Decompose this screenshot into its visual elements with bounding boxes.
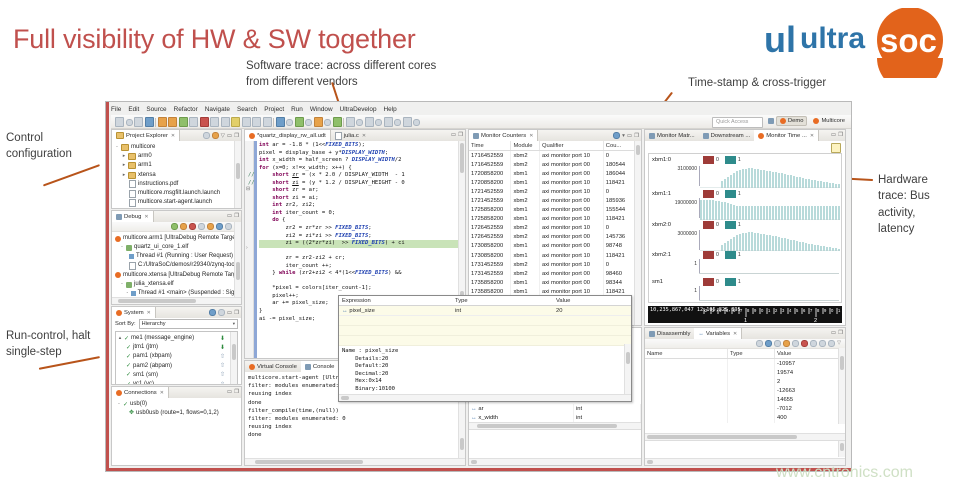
tree-item[interactable]: multicore.xtensa [UltraDebug Remote Targ… (115, 271, 241, 280)
variables-rows[interactable]: -10957 19574 2 -12663 14655 -7012 400 (645, 359, 845, 423)
debug-view-body[interactable]: ▽ multicore.arm1 [UltraDebug Remote Targ… (112, 222, 241, 304)
forward-icon[interactable] (413, 119, 420, 126)
suspend-icon[interactable] (180, 223, 187, 230)
copy-icon[interactable] (756, 340, 763, 347)
cell-time: 1730858200 (469, 251, 511, 260)
collapse-all-icon[interactable] (203, 132, 210, 139)
open-type-icon[interactable] (346, 117, 355, 127)
tree-item-label: usb(0) (130, 400, 147, 409)
tab-system[interactable]: System ✕ (112, 307, 156, 318)
column-type[interactable]: Type (728, 349, 775, 359)
maximize-icon[interactable]: ❐ (634, 133, 639, 139)
cell-count: 0 (603, 187, 635, 196)
variables-scrollbar[interactable] (838, 348, 845, 424)
svg-text:ultra: ultra (800, 22, 865, 55)
scrollbar-thumb[interactable] (341, 396, 349, 400)
step-into-icon[interactable] (210, 117, 219, 127)
svg-text:3: 3 (782, 308, 785, 313)
cell-name (645, 386, 728, 395)
sort-by-select[interactable]: Hierarchy ▾ (139, 319, 238, 329)
minimize-icon[interactable]: ▭ (831, 132, 836, 138)
terminate-icon[interactable] (189, 223, 196, 230)
tree-item[interactable]: - ✓ usb(0) (115, 400, 241, 409)
external-dropdown-icon[interactable] (324, 119, 331, 126)
build-icon[interactable] (276, 117, 285, 127)
process-icon (126, 245, 132, 251)
detail-pane-icon[interactable] (828, 340, 835, 347)
system-view-controls[interactable]: ▭ ❐ (209, 309, 239, 316)
resume-icon[interactable] (242, 117, 251, 127)
tree-item[interactable]: - quartz_ui_core_1.elf (115, 243, 241, 252)
table-row[interactable]: 1735858200xbm1axi monitor port 0098344 (469, 278, 641, 287)
table-row[interactable]: 1720858200xbm1axi monitor port 00186044 (469, 169, 641, 178)
close-icon[interactable]: ✕ (147, 310, 151, 316)
tree-item-label: me1 (message_engine) (131, 334, 194, 343)
expression-popup-blank-row[interactable] (339, 316, 631, 326)
table-row[interactable]: 400 (645, 414, 845, 423)
scrollbar-thumb[interactable] (460, 438, 464, 450)
step-over-icon[interactable] (221, 117, 230, 127)
menu-item-edit[interactable]: Edit (128, 106, 139, 113)
tab-downstream[interactable]: Downstream ... (699, 130, 755, 141)
tree-item[interactable]: ▴ ✓ me1 (message_engine) ⬇ (118, 334, 237, 343)
new-file-icon[interactable] (115, 117, 124, 127)
tree-item[interactable]: ✓ sm1 (sm) ⇧ (118, 371, 237, 380)
export-icon[interactable] (613, 132, 620, 139)
restart-icon[interactable] (263, 117, 272, 127)
scrollbar-thumb[interactable] (460, 143, 464, 173)
waveform-channel-label: sm1 (652, 279, 663, 285)
print-icon[interactable] (145, 117, 154, 127)
expand-icon[interactable] (765, 340, 772, 347)
system-scrollbar[interactable] (230, 332, 237, 384)
sort-by-row[interactable]: Sort By: Hierarchy ▾ (112, 318, 241, 330)
table-row[interactable]: ↔ ar int (469, 404, 641, 413)
table-row[interactable]: -10957 (645, 359, 845, 369)
close-icon[interactable]: ✕ (144, 214, 148, 220)
tree-item[interactable]: ▸ arm1 (115, 161, 241, 170)
checkbox-checked-icon[interactable]: ✓ (126, 354, 131, 360)
tree-item[interactable]: ▸ arm0 (115, 152, 241, 161)
scrollbar-thumb[interactable] (236, 262, 240, 280)
legend-label-low: 0 (716, 279, 719, 285)
collapse-icon[interactable] (774, 340, 781, 347)
column-count[interactable]: Cou... (603, 141, 635, 151)
toolbar: Quick Access Demo Multicore (111, 115, 851, 129)
remove-all-icon[interactable] (810, 340, 817, 347)
debug-toolbar[interactable]: ▽ (112, 222, 241, 232)
cell-module: xbm2 (511, 196, 540, 205)
launch-dropdown-icon[interactable] (305, 119, 312, 126)
toolbar-button-group[interactable] (115, 117, 420, 127)
tree-item[interactable]: multicore.msgfilt.launch.launch (115, 189, 241, 198)
minimize-icon[interactable]: ▭ (831, 330, 836, 336)
tree-item[interactable]: ✓ vc1 (vc) ⇧ (118, 380, 237, 384)
expression-popup-blank-row[interactable] (339, 326, 631, 336)
save-icon[interactable] (134, 117, 143, 127)
system-view: System ✕ ▭ ❐ Sort By: Hierarchy ▾ (111, 306, 242, 385)
cell-module: xbm1 (511, 178, 540, 187)
step-return-icon[interactable] (231, 117, 240, 127)
ide-window: File Edit Source Refactor Navigate Searc… (105, 101, 852, 472)
table-row[interactable]: 1726452559xbm2axi monitor port 00145736 (469, 233, 641, 242)
tree-item[interactable]: multicore.arm1 [UltraDebug Remote Target… (115, 234, 241, 243)
edit-icon[interactable] (792, 340, 799, 347)
expression-inspect-popup[interactable]: Expression Type Value ↔ pixel_size int 2… (338, 295, 632, 402)
tree-item-label: pam2 (abpam) (133, 362, 172, 371)
system-tree-container[interactable]: ▴ ✓ me1 (message_engine) ⬇ ✓ jtm1 (jtm) … (115, 331, 238, 384)
column-value[interactable]: Value (775, 349, 845, 359)
table-row[interactable]: 1721452559xbm2axi monitor port 100 (469, 187, 641, 196)
tab-virtual-console[interactable]: Virtual Console (245, 361, 301, 372)
prev-annotation-dropdown-icon[interactable] (394, 119, 401, 126)
expression-popup-row[interactable]: ↔ pixel_size int 20 (339, 306, 631, 316)
table-row[interactable]: 1731452559xbm2axi monitor port 100 (469, 260, 641, 269)
table-row[interactable]: 1720858200xbm1axi monitor port 10118421 (469, 178, 641, 187)
editor-view-controls[interactable]: ▭ ❐ (451, 132, 463, 138)
project-explorer-body[interactable]: - multicore ▸ arm0 ▸ arm1 ▸ xten (112, 141, 241, 208)
table-row[interactable]: 1716452559xbm2axi monitor port 100 (469, 151, 641, 161)
cell-count: 98748 (603, 242, 635, 251)
tab-disassembly[interactable]: Disassembly (645, 328, 694, 339)
step-over-icon[interactable] (207, 223, 214, 230)
quick-access-input[interactable]: Quick Access (712, 117, 763, 128)
cell-variable-name: ↔ ar (469, 404, 574, 413)
variables-left-hscrollbar[interactable] (469, 422, 641, 429)
monitor-counters-rows[interactable]: 1716452559xbm2axi monitor port 100 17164… (469, 151, 641, 306)
menu-item-navigate[interactable]: Navigate (205, 106, 230, 113)
debug-history-icon[interactable] (168, 117, 177, 127)
tab-disassembly-label: Disassembly (657, 331, 690, 337)
minimize-icon[interactable]: ▭ (227, 213, 232, 219)
cell-name (645, 359, 728, 369)
tree-item[interactable]: - julia_xtensa.elf (115, 280, 241, 289)
column-type[interactable]: Type (452, 298, 553, 304)
variables-toolbar[interactable]: ▽ (645, 339, 845, 349)
table-row[interactable]: -12663 (645, 386, 845, 395)
maximize-icon[interactable]: ❐ (838, 132, 843, 138)
perspective-switcher[interactable]: Demo Multicore (768, 116, 849, 126)
project-explorer-view-controls[interactable]: ▽ ▭ ❐ (203, 132, 239, 139)
tree-item[interactable]: quartz_display_rw_all.udt (115, 207, 241, 208)
system-view-body[interactable]: Sort By: Hierarchy ▾ ▴ ✓ me1 (message_en… (112, 318, 241, 384)
cell-module: xbm2 (511, 151, 540, 161)
table-row[interactable]: 1731452559xbm2axi monitor port 0098460 (469, 269, 641, 278)
menu-item-refactor[interactable]: Refactor (174, 106, 198, 113)
scrollbar-thumb[interactable] (626, 352, 630, 364)
column-qualifier[interactable]: Qualifier (539, 141, 603, 151)
waveform-legend[interactable]: 0 1 (703, 251, 741, 259)
run-icon[interactable] (179, 117, 188, 127)
waveform-time-ruler[interactable]: 10,235,867,047 12,105,825,895 (648, 306, 842, 323)
cell-module: xbm2 (511, 224, 540, 233)
debug-scrollbar[interactable] (234, 222, 241, 304)
waveform-legend[interactable]: 0 1 (703, 156, 741, 164)
drop-to-frame-icon[interactable] (225, 223, 232, 230)
pause-icon[interactable] (189, 117, 198, 127)
variables-body[interactable]: ▽ Name Type Value -10957 19574 2 -12663 … (645, 339, 845, 465)
zoom-tool-icon[interactable] (831, 143, 841, 153)
tab-julia-c[interactable]: julia.c ✕ (331, 130, 370, 141)
table-row[interactable]: 1730858200xbm1axi monitor port 10118421 (469, 251, 641, 260)
cell-module: xbm1 (511, 215, 540, 224)
view-menu-icon[interactable]: ▽ (837, 340, 841, 347)
tree-item[interactable]: multicore.start-agent.launch (115, 198, 241, 207)
menu-item-project[interactable]: Project (264, 106, 284, 113)
table-row[interactable]: -7012 (645, 404, 845, 413)
remove-icon[interactable] (801, 340, 808, 347)
cell-qualifier: axi monitor port 10 (539, 187, 603, 196)
tab-variables[interactable]: ↔ Variables ✕ (694, 328, 742, 339)
fold-marker-icon[interactable]: › (246, 245, 248, 251)
cell-qualifier: axi monitor port 10 (539, 151, 603, 161)
new-dropdown-icon[interactable] (126, 119, 133, 126)
chevron-down-icon[interactable]: ▾ (233, 320, 235, 328)
table-row[interactable]: 1730858200xbm1axi monitor port 0098748 (469, 242, 641, 251)
folder-icon (128, 162, 136, 169)
system-tree[interactable]: ▴ ✓ me1 (message_engine) ⬇ ✓ jtm1 (jtm) … (116, 332, 237, 384)
table-row[interactable]: 1716452559xbm2axi monitor port 00180544 (469, 160, 641, 169)
resume-icon[interactable] (171, 223, 178, 230)
minimize-icon[interactable]: ▭ (451, 132, 456, 138)
scrollbar-thumb[interactable] (840, 356, 844, 370)
legend-label-high: 1 (738, 279, 741, 285)
prev-annotation-icon[interactable] (384, 117, 393, 127)
table-row[interactable]: 19574 (645, 368, 845, 377)
chart-icon (758, 133, 764, 139)
waveform-legend[interactable]: 0 1 (703, 278, 741, 286)
node-icon: ✥ (129, 409, 134, 418)
tree-item-label: quartz_display_rw_all.udt (137, 207, 205, 208)
detail-scrollbar[interactable] (838, 441, 845, 457)
menu-item-window[interactable]: Window (310, 106, 333, 113)
connections-tree[interactable]: - ✓ usb(0) ✥ usb0usb (route=1, flows=0,1… (112, 398, 241, 418)
svg-text:7: 7 (740, 308, 743, 313)
debug-icon[interactable] (158, 117, 167, 127)
scrollbar-thumb[interactable] (232, 344, 236, 360)
table-row[interactable]: ↔ x_width int (469, 413, 641, 422)
tab-quartz-display-udt[interactable]: *quartz_display_rw_all.udt (245, 130, 331, 141)
menu-item-run[interactable]: Run (291, 106, 303, 113)
monitor-time-body[interactable]: xbm1:0 0 1 3100000 (645, 141, 845, 325)
expression-popup-details: Name : pixel_size Details:20 Default:20 … (339, 346, 631, 396)
step-into-icon[interactable] (198, 223, 205, 230)
link-with-editor-icon[interactable] (212, 132, 219, 139)
variables-left-table[interactable]: ↔ ar int ↔ x_width int (469, 404, 641, 422)
minimize-icon[interactable]: ▭ (227, 310, 232, 316)
debug-view-controls[interactable]: ▭ ❐ (227, 213, 239, 219)
legend-swatch-low (703, 251, 714, 259)
waveform-canvas[interactable]: xbm1:0 0 1 3100000 (648, 153, 842, 303)
column-module[interactable]: Module (511, 141, 540, 151)
column-name[interactable]: Name (645, 349, 728, 359)
maximize-icon[interactable]: ❐ (234, 389, 239, 395)
tree-item[interactable]: ▸ xtensa (115, 171, 241, 180)
variables-hscrollbar[interactable] (645, 433, 845, 440)
maximize-icon[interactable]: ❐ (838, 330, 843, 336)
table-row[interactable]: 14655 (645, 395, 845, 404)
search-icon[interactable] (333, 117, 342, 127)
expression-popup-blank-row[interactable] (339, 336, 631, 346)
tab-connections[interactable]: Connections ✕ (112, 387, 169, 398)
tree-item[interactable]: ✓ jtm1 (jtm) ⬇ (118, 343, 237, 352)
tree-item[interactable]: ✥ usb0usb (route=1, flows=0,1,2) (115, 409, 241, 418)
tree-item[interactable]: - multicore (115, 143, 241, 152)
open-type-dropdown-icon[interactable] (356, 119, 363, 126)
tree-item[interactable]: instructions.pdf (115, 180, 241, 189)
scrollbar-thumb[interactable] (647, 435, 797, 439)
svg-text:3: 3 (712, 308, 715, 313)
menu-item-source[interactable]: Source (146, 106, 166, 113)
add-watch-icon[interactable] (783, 340, 790, 347)
table-row[interactable]: 2 (645, 377, 845, 386)
tab-debug[interactable]: Debug ✕ (112, 211, 154, 222)
variables-table[interactable]: Name Type Value -10957 19574 2 -12663 14… (645, 349, 845, 423)
next-annotation-icon[interactable] (365, 117, 374, 127)
back-icon[interactable] (403, 117, 412, 127)
perspective-demo[interactable]: Demo (776, 116, 807, 126)
maximize-icon[interactable]: ❐ (234, 310, 239, 316)
cell-count: 118421 (603, 215, 635, 224)
scrollbar-thumb[interactable] (255, 460, 363, 464)
tab-monitor-time[interactable]: Monitor Time ... ✕ (754, 130, 819, 141)
maximize-icon[interactable]: ❐ (234, 213, 239, 219)
table-row[interactable]: 1725858200xbm1axi monitor port 10118421 (469, 215, 641, 224)
close-icon[interactable]: ✕ (160, 390, 164, 396)
scrollbar-thumb[interactable] (118, 299, 196, 303)
console-icon (305, 364, 311, 370)
cell-count: 155544 (603, 206, 635, 215)
debug-hscrollbar[interactable] (112, 297, 241, 304)
view-menu-icon[interactable]: ▾ (622, 133, 625, 139)
tab-monitor-matrix-label: Monitor Matr... (657, 133, 695, 139)
menu-item-ultradevelop[interactable]: UltraDevelop (340, 106, 377, 113)
maximize-icon[interactable]: ❐ (458, 132, 463, 138)
tree-item[interactable]: ✓ pam1 (xbpam) ⇧ (118, 352, 237, 361)
scrollbar-thumb[interactable] (477, 424, 617, 428)
refresh-icon[interactable] (209, 309, 216, 316)
menu-item-help[interactable]: Help (384, 106, 397, 113)
cell-count: 0 (603, 151, 635, 161)
expression-popup-scrollbar[interactable] (624, 344, 631, 394)
arrow-down-icon: ⬇ (220, 336, 225, 342)
connections-view-controls[interactable]: ▭ ❐ (227, 389, 239, 395)
monitor-counters-scrollbar[interactable] (634, 141, 641, 325)
minimize-icon[interactable]: ▭ (227, 133, 232, 139)
view-menu-icon[interactable]: ▽ (221, 133, 225, 139)
scrollbar-thumb[interactable] (636, 145, 640, 155)
tree-item[interactable]: ✓ pam2 (abpam) ⇧ (118, 362, 237, 371)
tree-item-label: multicore.msgfilt.launch.launch (138, 189, 220, 198)
checkbox-checked-icon[interactable]: ✓ (124, 336, 129, 342)
column-expression[interactable]: Expression (339, 298, 452, 304)
checkbox-checked-icon[interactable]: ✓ (126, 372, 131, 378)
monitor-counters-view-controls[interactable]: ▾ ▭ ❐ (613, 132, 639, 139)
twisty-icon: ▸ (122, 171, 126, 180)
svg-text:1: 1 (838, 308, 841, 313)
close-icon[interactable]: ✕ (171, 133, 175, 139)
disconnect-icon[interactable] (252, 117, 261, 127)
minimize-icon[interactable]: ▭ (227, 389, 232, 395)
table-row[interactable]: 1725858200xbm1axi monitor port 00155544 (469, 206, 641, 215)
monitor-time-view-controls[interactable]: ▭ ❐ (831, 132, 843, 138)
waveform-legend[interactable]: 0 1 (703, 221, 741, 229)
close-icon[interactable]: ✕ (362, 133, 366, 139)
build-dropdown-icon[interactable] (286, 119, 293, 126)
debug-tree[interactable]: multicore.arm1 [UltraDebug Remote Target… (112, 232, 241, 304)
cell-value: -10957 (775, 359, 845, 369)
tab-monitor-counters[interactable]: Monitor Counters ✕ (469, 130, 538, 141)
cell-time: 1721452559 (469, 187, 511, 196)
close-icon[interactable]: ✕ (810, 133, 814, 139)
scrollbar-thumb[interactable] (471, 460, 477, 464)
twisty-icon: - (120, 280, 124, 290)
close-icon[interactable]: ✕ (733, 331, 737, 337)
minimize-icon[interactable]: ▭ (627, 133, 632, 139)
open-perspective-icon[interactable] (768, 118, 774, 124)
menu-item-search[interactable]: Search (237, 106, 257, 113)
external-tools-icon[interactable] (314, 117, 323, 127)
cell-module: xbm1 (511, 278, 540, 287)
checkbox-checked-icon[interactable]: ✓ (126, 363, 131, 369)
scrollbar-thumb[interactable] (840, 443, 844, 451)
close-icon[interactable]: ✕ (529, 133, 533, 139)
step-return-icon[interactable] (216, 223, 223, 230)
variables-left-hscrollbar2[interactable] (469, 458, 641, 465)
table-row[interactable]: 1721452559xbm2axi monitor port 00185936 (469, 196, 641, 205)
tree-item[interactable]: Thread #1 (Running : User Request) (115, 252, 241, 261)
scrollbar-thumb[interactable] (647, 460, 653, 464)
cell-module: xbm2 (511, 269, 540, 278)
variables-view-controls[interactable]: ▭ ❐ (831, 330, 843, 336)
cell-count: 0 (603, 260, 635, 269)
table-header-row: Name Type Value (645, 349, 845, 359)
project-explorer-tree[interactable]: - multicore ▸ arm0 ▸ arm1 ▸ xten (112, 141, 241, 208)
tab-project-explorer[interactable]: Project Explorer ✕ (112, 130, 180, 141)
column-value[interactable]: Value (553, 298, 631, 304)
terminate-icon[interactable] (200, 117, 209, 127)
callout-control-configuration: Control configuration (6, 130, 106, 163)
project-explorer-scrollbar[interactable] (234, 141, 241, 208)
cell-name (645, 414, 728, 423)
perspective-multicore[interactable]: Multicore (809, 116, 849, 126)
tree-item[interactable]: C:/UltraSoC/demos/r29340/zynq-tools/ar (115, 262, 241, 271)
expression-popup-hscrollbar[interactable] (339, 394, 631, 401)
checkbox-checked-icon[interactable]: ✓ (126, 382, 131, 384)
menu-item-file[interactable]: File (111, 106, 121, 113)
monitor-counters-table[interactable]: Time Module Qualifier Cou... 1716452559x… (469, 141, 641, 306)
maximize-icon[interactable]: ❐ (234, 133, 239, 139)
table-row[interactable]: 1726452559xbm2axi monitor port 100 (469, 224, 641, 233)
console-hscrollbar[interactable] (245, 458, 465, 465)
file-icon (129, 190, 136, 198)
layout-icon[interactable] (819, 340, 826, 347)
next-annotation-dropdown-icon[interactable] (375, 119, 382, 126)
menu-bar[interactable]: File Edit Source Refactor Navigate Searc… (111, 103, 397, 115)
launch-icon[interactable] (295, 117, 304, 127)
column-time[interactable]: Time (469, 141, 511, 151)
cell-variable-type: int (574, 413, 641, 422)
scrollbar-thumb[interactable] (236, 163, 240, 179)
tab-monitor-matrix[interactable]: Monitor Matr... (645, 130, 699, 141)
cell-time: 1720858200 (469, 169, 511, 178)
legend-swatch-high (725, 251, 736, 259)
connections-view-body[interactable]: - ✓ usb(0) ✥ usb0usb (route=1, flows=0,1… (112, 398, 241, 465)
checkbox-checked-icon[interactable]: ✓ (126, 345, 131, 351)
variables-detail-pane[interactable] (645, 440, 845, 457)
filter-icon[interactable] (218, 309, 225, 316)
toolbar-separator-3 (343, 118, 344, 127)
